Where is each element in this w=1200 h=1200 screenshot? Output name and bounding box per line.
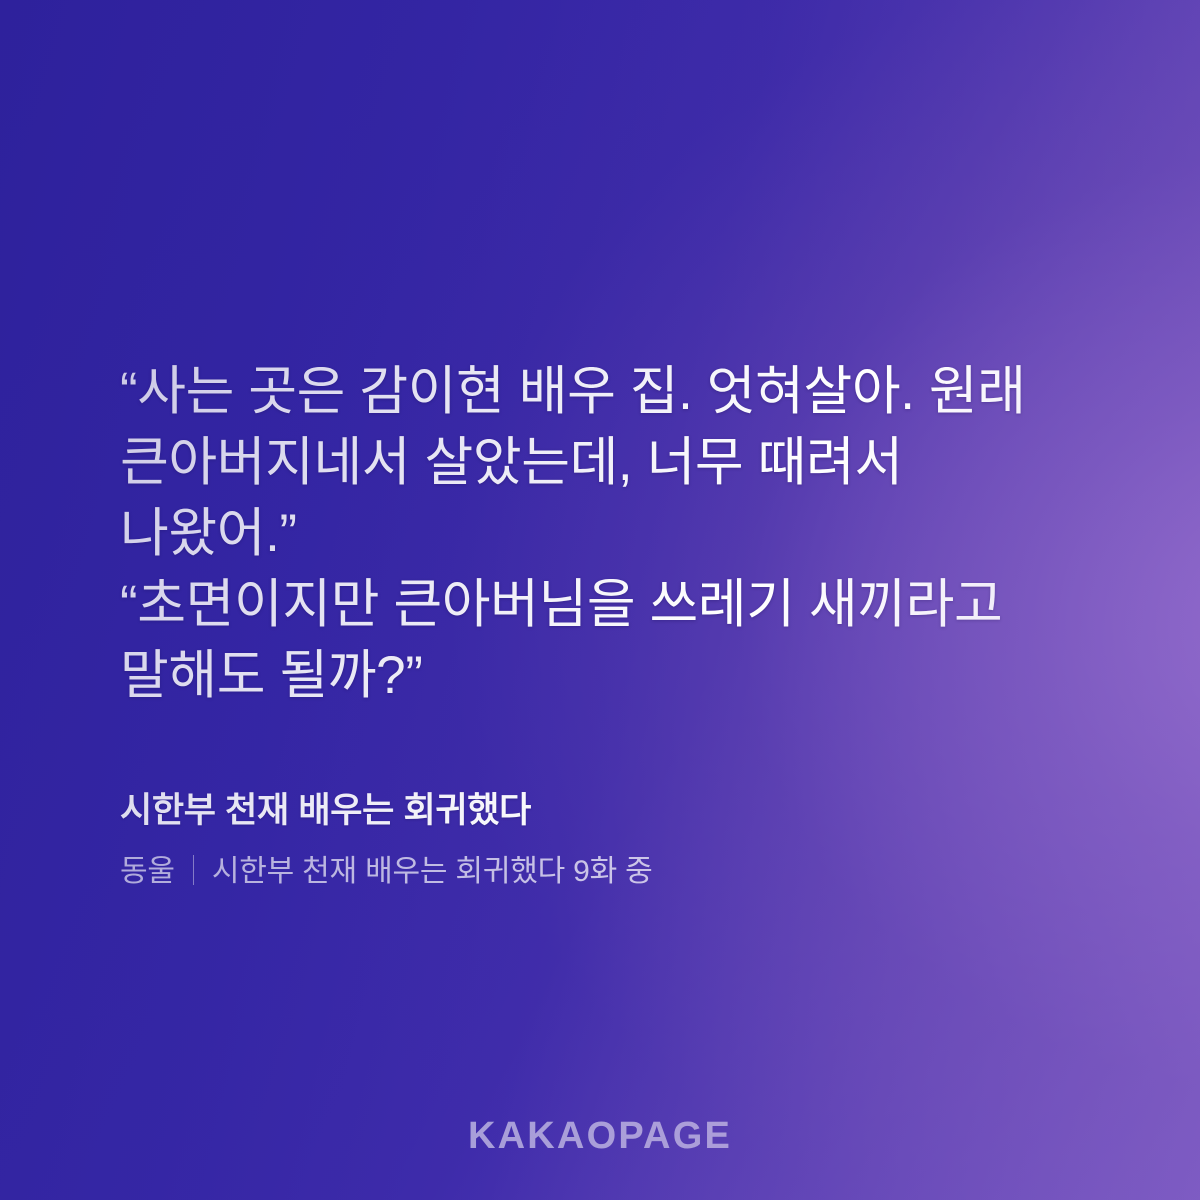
attribution-author: 동울 xyxy=(120,852,175,892)
quote-text: “사는 곳은 감이현 배우 집. 엇혀살아. 원래 큰아버지네서 살았는데, 너… xyxy=(120,356,1090,711)
attribution-separator-icon xyxy=(193,855,194,885)
quote-paragraph-2: “초면이지만 큰아버님을 쓰레기 새끼라고 말해도 될까?” xyxy=(120,569,1090,711)
quote-card: “사는 곳은 감이현 배우 집. 엇혀살아. 원래 큰아버지네서 살았는데, 너… xyxy=(0,0,1200,1200)
work-info: 시한부 천재 배우는 회귀했다 동울 시한부 천재 배우는 회귀했다 9화 중 xyxy=(120,789,1090,892)
attribution-source: 시한부 천재 배우는 회귀했다 9화 중 xyxy=(212,852,653,892)
kakaopage-logo: KAKAOPAGE xyxy=(0,1115,1200,1158)
work-title: 시한부 천재 배우는 회귀했다 xyxy=(120,789,1090,833)
card-content: “사는 곳은 감이현 배우 집. 엇혀살아. 원래 큰아버지네서 살았는데, 너… xyxy=(120,356,1090,892)
quote-paragraph-1: “사는 곳은 감이현 배우 집. 엇혀살아. 원래 큰아버지네서 살았는데, 너… xyxy=(120,356,1090,569)
work-attribution: 동울 시한부 천재 배우는 회귀했다 9화 중 xyxy=(120,851,1090,892)
